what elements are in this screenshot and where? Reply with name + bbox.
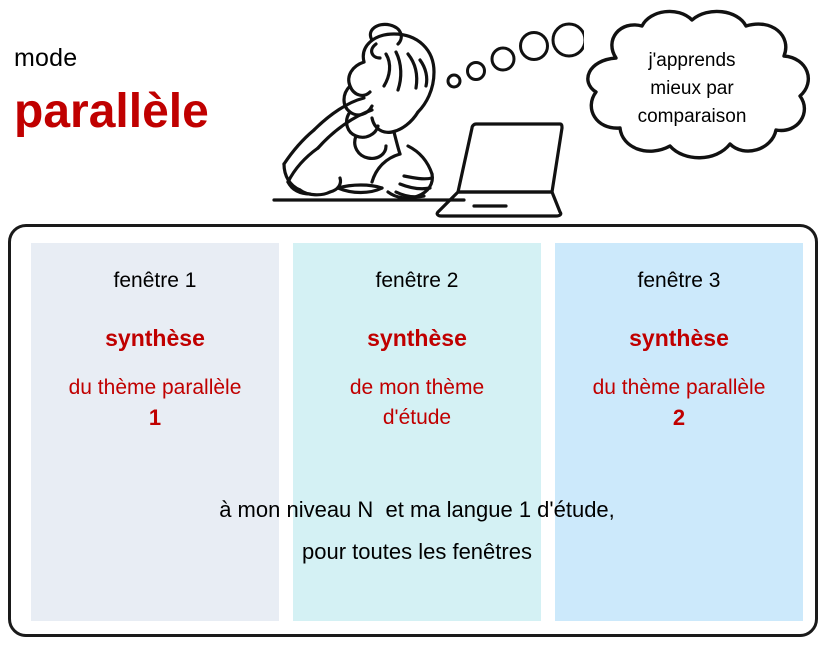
thought-cloud-line-3: comparaison [638, 104, 747, 130]
window-label-1: fenêtre 1 [114, 267, 197, 295]
window-panel-2[interactable]: fenêtre 2 synthèse de mon thème d'étude [293, 243, 541, 621]
header-area: mode parallèle [0, 0, 829, 224]
mode-label: mode [14, 44, 77, 72]
synthese-desc-2b: d'étude [383, 403, 451, 433]
synthese-desc-2: de mon thème [350, 373, 484, 403]
mode-title: parallèle [14, 84, 209, 140]
window-label-2: fenêtre 2 [376, 267, 459, 295]
window-panel-1[interactable]: fenêtre 1 synthèse du thème parallèle 1 [31, 243, 279, 621]
windows-container: fenêtre 1 synthèse du thème parallèle 1 … [8, 224, 818, 637]
window-label-3: fenêtre 3 [638, 267, 721, 295]
synthese-heading-2: synthèse [367, 323, 467, 353]
thought-cloud-text: j'apprends mieux par comparaison [558, 6, 826, 166]
synthese-desc-3: du thème parallèle [593, 373, 766, 403]
synthese-heading-1: synthèse [105, 323, 205, 353]
theme-number-1: 1 [149, 403, 161, 433]
window-panel-3[interactable]: fenêtre 3 synthèse du thème parallèle 2 [555, 243, 803, 621]
theme-number-3: 2 [673, 403, 685, 433]
synthese-desc-1: du thème parallèle [69, 373, 242, 403]
thought-cloud: j'apprends mieux par comparaison [558, 6, 826, 166]
synthese-heading-3: synthèse [629, 323, 729, 353]
thought-cloud-line-2: mieux par [650, 76, 733, 102]
thought-cloud-line-1: j'apprends [648, 48, 735, 74]
panel-row: fenêtre 1 synthèse du thème parallèle 1 … [31, 243, 803, 621]
